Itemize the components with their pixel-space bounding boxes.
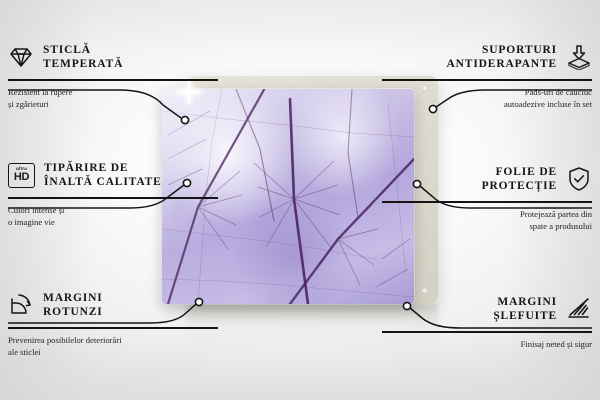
feature-description: Rezistent la rupere și zgârieturi bbox=[8, 86, 218, 110]
feature-description: Pads-uri de cauciuc autoadezive incluse … bbox=[382, 86, 592, 110]
feature-title: SUPORTURI ANTIDERAPANTE bbox=[446, 43, 557, 71]
feature-header: MARGINI ȘLEFUITE bbox=[382, 292, 592, 326]
feature-divider bbox=[382, 201, 592, 203]
feature-divider bbox=[8, 79, 218, 81]
feature-description: Culori intense și o imagine vie bbox=[8, 204, 218, 228]
feature-divider bbox=[8, 197, 218, 199]
feature-anti-slip-supports[interactable]: SUPORTURI ANTIDERAPANTE Pads-uri de cauc… bbox=[382, 40, 592, 110]
feature-tempered-glass[interactable]: STICLĂ TEMPERATĂ Rezistent la rupere și … bbox=[8, 40, 218, 110]
shield-check-icon bbox=[566, 166, 592, 192]
feature-title: STICLĂ TEMPERATĂ bbox=[43, 43, 123, 71]
feature-header: ultra HD TIPĂRIRE DE ÎNALTĂ CALITATE bbox=[8, 158, 218, 192]
feature-description: Prevenirea posibilelor deteriorări ale s… bbox=[8, 334, 218, 358]
feature-description: Protejează partea din spate a produsului bbox=[382, 208, 592, 232]
feature-title: MARGINI ROTUNZI bbox=[43, 291, 103, 319]
feature-title: MARGINI ȘLEFUITE bbox=[493, 295, 557, 323]
anti-slip-pad-icon bbox=[566, 44, 592, 70]
feature-divider bbox=[8, 327, 218, 329]
feature-description: Finisaj neted și sigur bbox=[382, 338, 592, 350]
rounded-corner-icon bbox=[8, 292, 34, 318]
feature-divider bbox=[382, 331, 592, 333]
feature-header: STICLĂ TEMPERATĂ bbox=[8, 40, 218, 74]
feature-header: SUPORTURI ANTIDERAPANTE bbox=[382, 40, 592, 74]
feature-protective-film[interactable]: FOLIE DE PROTECȚIE Protejează partea din… bbox=[382, 162, 592, 232]
feature-header: FOLIE DE PROTECȚIE bbox=[382, 162, 592, 196]
ultra-hd-icon: ultra HD bbox=[8, 163, 35, 188]
feature-title: TIPĂRIRE DE ÎNALTĂ CALITATE bbox=[44, 161, 162, 189]
feature-hd-printing[interactable]: ultra HD TIPĂRIRE DE ÎNALTĂ CALITATE Cul… bbox=[8, 158, 218, 228]
feature-divider bbox=[382, 79, 592, 81]
sanded-edge-icon bbox=[566, 296, 592, 322]
feature-title: FOLIE DE PROTECȚIE bbox=[482, 165, 557, 193]
feature-sanded-edges[interactable]: MARGINI ȘLEFUITE Finisaj neted și sigur bbox=[382, 292, 592, 350]
diamond-icon bbox=[8, 44, 34, 70]
feature-header: MARGINI ROTUNZI bbox=[8, 288, 218, 322]
feature-rounded-edges[interactable]: MARGINI ROTUNZI Prevenirea posibilelor d… bbox=[8, 288, 218, 358]
